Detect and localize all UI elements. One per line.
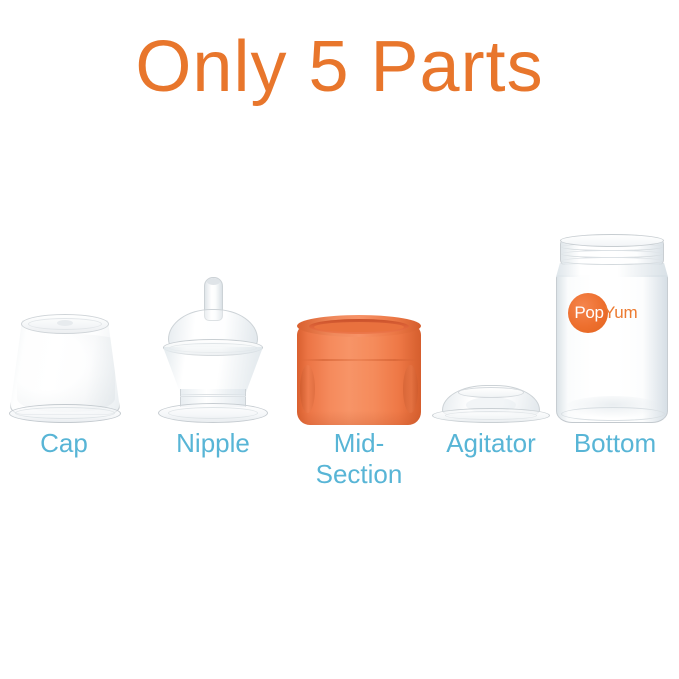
nipple-teat-tip <box>207 278 220 285</box>
mid-section-opening <box>314 322 404 332</box>
part-label-nipple: Nipple <box>150 428 276 459</box>
part-label-agitator: Agitator <box>424 428 558 459</box>
cap-top-detail <box>57 320 73 326</box>
part-image-agitator <box>432 379 550 425</box>
mid-section-grip-right <box>403 365 418 413</box>
mid-section-body <box>297 325 421 425</box>
bottle-shoulder <box>556 263 668 277</box>
part-label-mid-section: Mid- Section <box>293 428 425 490</box>
product-parts-infographic: Only 5 Parts <box>0 0 679 679</box>
cap-inner-shading <box>17 334 115 412</box>
part-label-mid-section-line1: Mid- <box>334 428 385 458</box>
popyum-logo: Pop Yum <box>568 293 656 333</box>
bottle-thread-3 <box>561 257 663 265</box>
part-label-mid-section-line2: Section <box>316 459 403 489</box>
page-title: Only 5 Parts <box>0 24 679 110</box>
bottle-base-rim <box>561 407 665 421</box>
part-label-bottom: Bottom <box>555 428 675 459</box>
part-image-cap <box>10 310 120 425</box>
parts-label-row: Cap Nipple Mid- Section Agitator Bottom <box>0 428 679 498</box>
agitator-top-rim <box>458 387 524 398</box>
nipple-dome-body <box>163 347 263 395</box>
bottle-neck-opening <box>560 234 664 247</box>
part-image-mid-section <box>297 315 421 425</box>
part-image-nipple <box>152 277 274 425</box>
mid-section-bottom-shading <box>297 411 421 425</box>
cap-bottom-rim-inner <box>15 407 115 419</box>
popyum-logo-mark-text: Pop <box>570 304 608 322</box>
nipple-base-flange-inner <box>168 407 258 419</box>
parts-illustration-row: Pop Yum <box>0 225 679 425</box>
mid-section-ridge <box>300 359 418 361</box>
part-label-cap: Cap <box>5 428 123 459</box>
nipple-neck-line <box>180 396 246 397</box>
part-image-bottom: Pop Yum <box>556 235 668 425</box>
agitator-brim-inner <box>445 411 537 420</box>
cap-body-shape <box>10 320 120 415</box>
mid-section-grip-left <box>300 365 315 413</box>
popyum-logo-word-text: Yum <box>604 304 637 322</box>
